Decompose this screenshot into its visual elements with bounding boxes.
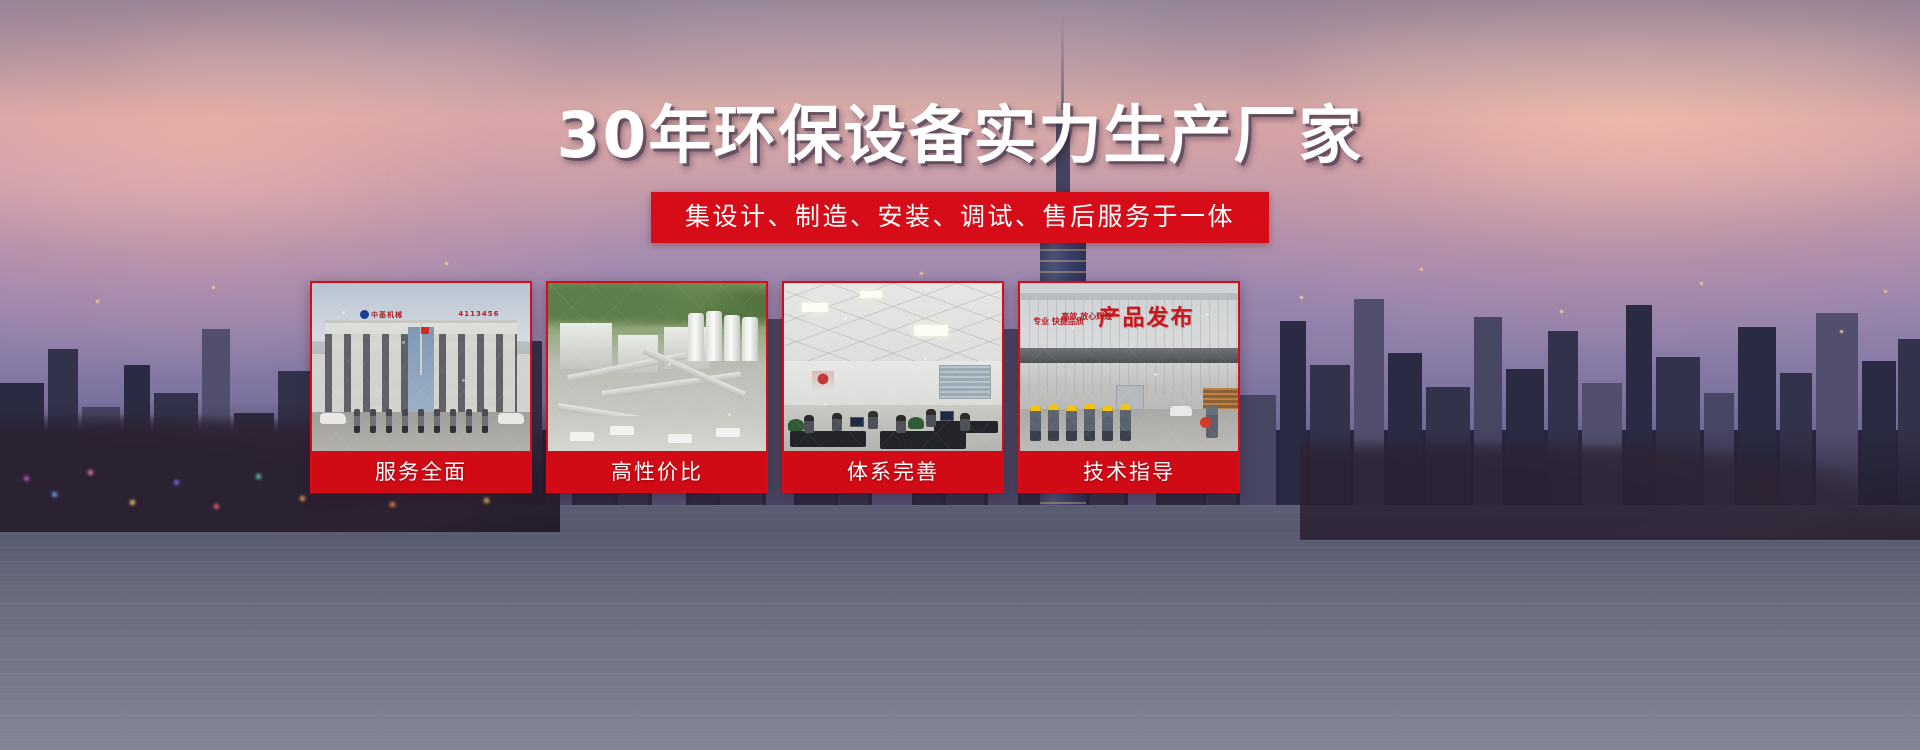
wall-logo [812, 371, 834, 391]
card-photo-office-interior [784, 283, 1002, 453]
company-name-sign: 中基机械 [371, 310, 403, 320]
card-photo-factory-workers: 专业 快捷品质 高效 放心辉煌 产品发布 [1020, 283, 1238, 453]
building-logo: 中基机械 [360, 310, 403, 319]
feature-card-row: 中基机械 4113456 [310, 281, 1260, 493]
card-label: 技术指导 [1020, 451, 1238, 491]
hero-banner: 30年环保设备实力生产厂家 集设计、制造、安装、调试、售后服务于一体 [0, 0, 1920, 750]
card-label: 体系完善 [784, 451, 1002, 491]
factory-sign-main: 产品发布 [1098, 300, 1194, 332]
feature-card[interactable]: 高性价比 [546, 281, 768, 493]
card-photo-industrial-plant [548, 283, 766, 453]
subtitle-bar-wrap: 集设计、制造、安装、调试、售后服务于一体 [0, 192, 1920, 243]
tower-spire [1061, 15, 1064, 110]
card-label: 服务全面 [312, 451, 530, 491]
subtitle-banner: 集设计、制造、安装、调试、售后服务于一体 [651, 192, 1269, 243]
river-water [0, 505, 1920, 750]
feature-card[interactable]: 专业 快捷品质 高效 放心辉煌 产品发布 [1018, 281, 1240, 493]
riverside-trees-right [1300, 430, 1920, 540]
feature-card[interactable]: 体系完善 [782, 281, 1004, 493]
card-label: 高性价比 [548, 451, 766, 491]
building-phone-sign: 4113456 [458, 310, 499, 318]
company-logo-icon [360, 310, 369, 319]
feature-card[interactable]: 中基机械 4113456 [310, 281, 532, 493]
card-photo-company-building: 中基机械 4113456 [312, 283, 530, 453]
page-title: 30年环保设备实力生产厂家 [0, 104, 1920, 167]
